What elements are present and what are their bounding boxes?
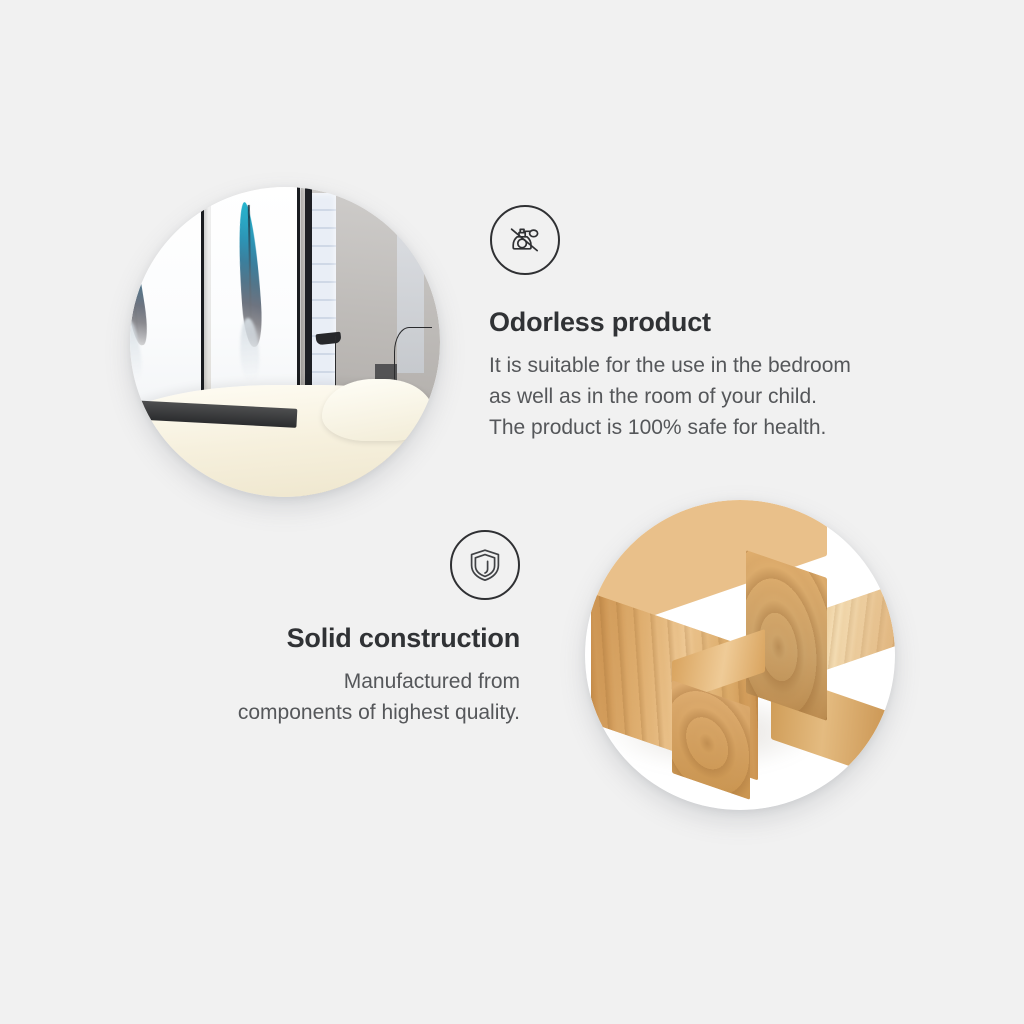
bedroom-scene xyxy=(130,187,440,497)
wood-scene xyxy=(585,500,895,810)
lamp-shade xyxy=(316,331,342,344)
body-line: Manufactured from xyxy=(180,666,520,697)
no-perfume-icon xyxy=(490,205,560,275)
pillow xyxy=(322,379,434,441)
odorless-title: Odorless product xyxy=(489,308,929,338)
wooden-beams-photo xyxy=(585,500,895,810)
body-line: The product is 100% safe for health. xyxy=(489,412,929,443)
solid-body: Manufactured from components of highest … xyxy=(180,666,520,728)
body-line: components of highest quality. xyxy=(180,697,520,728)
body-line: It is suitable for the use in the bedroo… xyxy=(489,350,929,381)
solid-feature-text: Solid construction Manufactured from com… xyxy=(180,624,520,728)
bedroom-feather-wall-art-photo xyxy=(130,187,440,497)
odorless-feature-text: Odorless product It is suitable for the … xyxy=(489,308,929,443)
shield-glyph xyxy=(465,545,505,585)
odorless-body: It is suitable for the use in the bedroo… xyxy=(489,350,929,443)
shield-icon xyxy=(450,530,520,600)
no-perfume-glyph xyxy=(504,219,546,261)
solid-title: Solid construction xyxy=(180,624,520,654)
photo-clip xyxy=(130,187,440,497)
infographic-stage: Odorless product It is suitable for the … xyxy=(0,0,1024,1024)
body-line: as well as in the room of your child. xyxy=(489,381,929,412)
photo-clip xyxy=(585,500,895,810)
